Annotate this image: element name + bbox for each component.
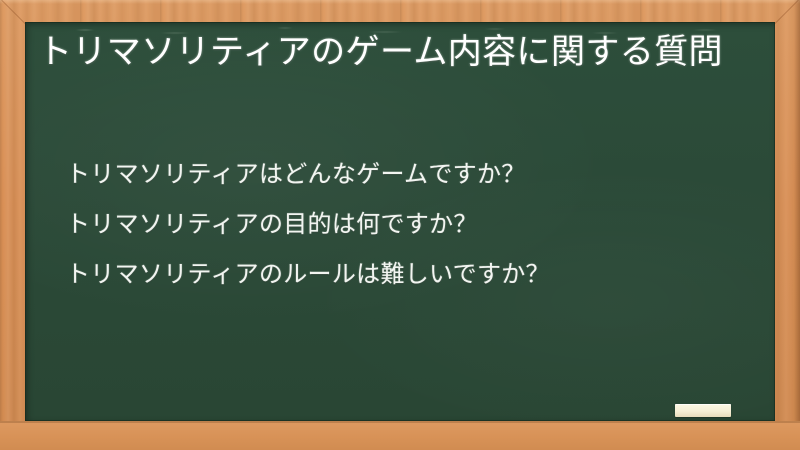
ledge-top-shadow [0,421,800,423]
wooden-frame: トリマソリティアのゲーム内容に関する質問 トリマソリティアはどんなゲームですか？… [0,0,800,450]
chalkboard-ledge [0,421,800,450]
question-list: トリマソリティアはどんなゲームですか？ トリマソリティアの目的は何ですか？ トリ… [38,150,748,300]
chalkboard: トリマソリティアのゲーム内容に関する質問 トリマソリティアはどんなゲームですか？… [25,22,775,421]
frame-right-shadow [794,0,800,450]
chalk-stick [675,404,731,417]
list-item: トリマソリティアのルールは難しいですか？ [38,250,748,300]
page-title: トリマソリティアのゲーム内容に関する質問 [38,30,738,75]
board-content: トリマソリティアのゲーム内容に関する質問 トリマソリティアはどんなゲームですか？… [25,22,775,421]
list-item: トリマソリティアの目的は何ですか？ [38,200,748,250]
list-item: トリマソリティアはどんなゲームですか？ [38,150,748,200]
frame-top-highlight [0,0,800,4]
